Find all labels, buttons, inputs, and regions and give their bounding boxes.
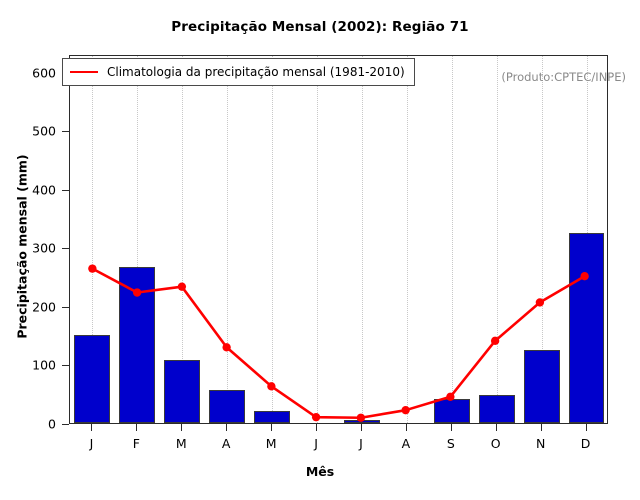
x-tick-mark [541,424,542,431]
x-tick-mark [316,424,317,431]
x-tick-label-4: M [266,436,277,451]
x-tick-mark [91,424,92,431]
x-tick-label-0: J [90,436,94,451]
climatology-point-n-10 [536,298,544,306]
climatology-point-a-3 [222,343,230,351]
y-tick-label: 300 [32,241,56,256]
x-tick-label-3: A [222,436,231,451]
chart-legend: Climatologia da precipitação mensal (198… [62,58,415,86]
y-tick-mark [62,131,69,132]
y-tick-label: 500 [32,124,56,139]
x-axis-label: Mês [0,464,640,479]
x-tick-mark [181,424,182,431]
y-tick-mark [62,307,69,308]
chart-figure: Precipitação Mensal (2002): Região 71 01… [0,0,640,500]
x-tick-mark [226,424,227,431]
y-tick-label: 100 [32,358,56,373]
x-tick-mark [271,424,272,431]
x-tick-label-2: M [176,436,187,451]
climatology-point-o-9 [491,337,499,345]
x-tick-mark [496,424,497,431]
y-tick-mark [62,365,69,366]
x-tick-mark [451,424,452,431]
legend-item-label: Climatologia da precipitação mensal (198… [107,65,405,79]
climatology-line [92,269,584,418]
climatology-point-j-0 [88,264,96,272]
y-tick-mark [62,424,69,425]
producer-credit: (Produto:CPTEC/INPE) [501,70,626,84]
y-tick-label: 600 [32,65,56,80]
y-tick-label: 400 [32,182,56,197]
y-tick-mark [62,190,69,191]
x-tick-mark [361,424,362,431]
climatology-line-series [70,56,607,423]
x-tick-label-6: J [359,436,363,451]
y-axis-label: Precipitação mensal (mm) [15,127,30,367]
y-axis: 0100200300400500600 [0,55,69,424]
x-axis: JFMAMJJASOND [69,424,608,454]
x-tick-mark [406,424,407,431]
climatology-point-d-11 [580,272,588,280]
x-tick-label-8: S [447,436,455,451]
legend-line-icon [70,71,98,73]
x-tick-mark [586,424,587,431]
climatology-point-j-6 [357,414,365,422]
climatology-point-s-8 [446,393,454,401]
x-tick-label-5: J [314,436,318,451]
y-tick-label: 0 [48,417,56,432]
x-tick-label-7: A [402,436,411,451]
chart-title: Precipitação Mensal (2002): Região 71 [0,19,640,35]
climatology-point-a-7 [401,406,409,414]
plot-area [69,55,608,424]
climatology-point-m-2 [178,283,186,291]
x-tick-label-9: O [491,436,501,451]
climatology-point-f-1 [133,288,141,296]
climatology-point-m-4 [267,382,275,390]
x-tick-label-1: F [133,436,140,451]
y-tick-mark [62,248,69,249]
x-tick-mark [136,424,137,431]
x-tick-label-11: D [581,436,591,451]
climatology-point-j-5 [312,413,320,421]
y-tick-label: 200 [32,299,56,314]
x-tick-label-10: N [536,436,545,451]
